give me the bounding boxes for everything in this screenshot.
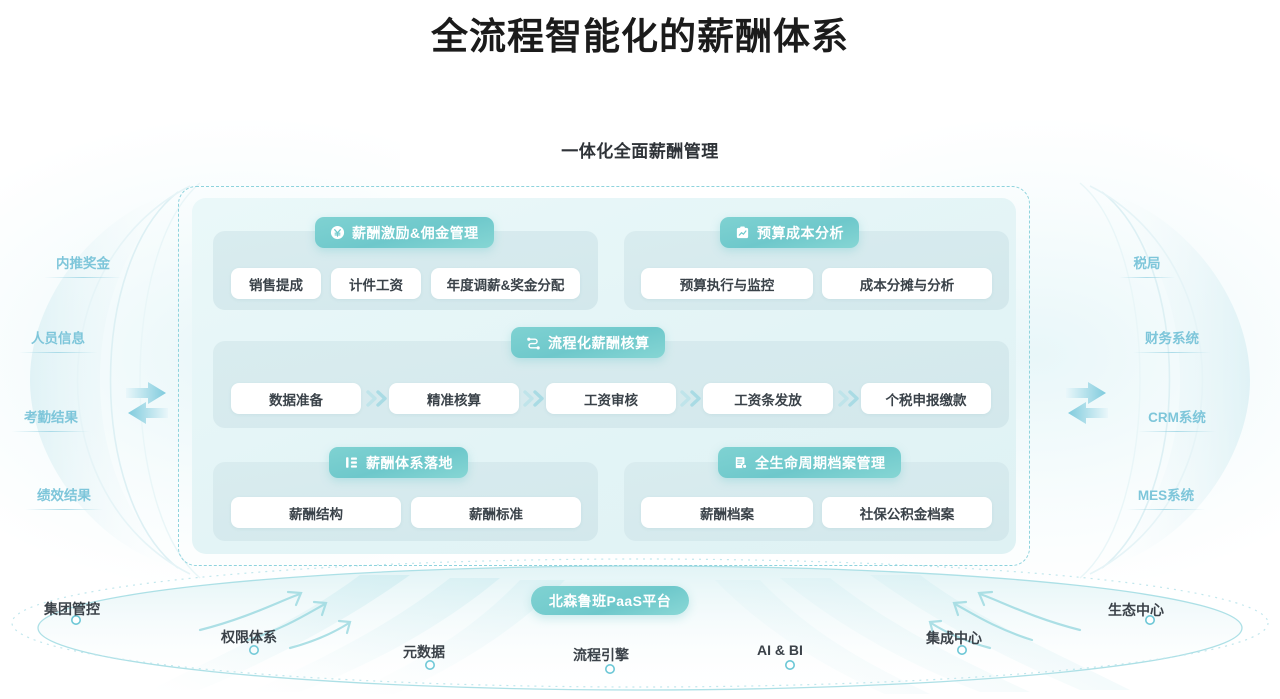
module-header-label: 全生命周期档案管理 <box>755 453 886 473</box>
platform-capability-ecosystem[interactable]: 生态中心 <box>1108 600 1164 620</box>
platform-capability-metadata[interactable]: 元数据 <box>403 642 445 662</box>
module-header-compensation-incentive[interactable]: 薪酬激励&佣金管理 <box>315 217 494 248</box>
chart-report-icon <box>735 225 750 240</box>
chip-budget-execution[interactable]: 预算执行与监控 <box>641 268 813 299</box>
platform-capability-flow-engine[interactable]: 流程引擎 <box>573 645 629 665</box>
chip-sales-commission[interactable]: 销售提成 <box>231 268 321 299</box>
exchange-arrows-icon-left <box>118 374 176 432</box>
module-header-payroll-process[interactable]: 流程化薪酬核算 <box>511 327 665 358</box>
output-label-tax-bureau: 税局 <box>1119 252 1175 278</box>
exchange-arrows-icon-right <box>1058 374 1116 432</box>
module-header-compensation-system[interactable]: 薪酬体系落地 <box>329 447 468 478</box>
platform-capability-integration[interactable]: 集成中心 <box>926 628 982 648</box>
process-step-payslip-issue[interactable]: 工资条发放 <box>703 383 833 414</box>
chip-social-fund-archive[interactable]: 社保公积金档案 <box>822 497 992 528</box>
module-header-label: 薪酬体系落地 <box>366 453 453 473</box>
output-label-crm-system: CRM系统 <box>1138 406 1216 432</box>
module-header-label: 流程化薪酬核算 <box>548 333 650 353</box>
flow-node-icon <box>526 335 541 350</box>
module-header-budget-cost[interactable]: 预算成本分析 <box>720 217 859 248</box>
module-header-label: 薪酬激励&佣金管理 <box>352 223 479 243</box>
platform-capability-group-control[interactable]: 集团管控 <box>44 599 100 619</box>
chip-cost-allocation[interactable]: 成本分摊与分析 <box>822 268 992 299</box>
archive-doc-icon <box>733 455 748 470</box>
module-header-lifecycle-archive[interactable]: 全生命周期档案管理 <box>718 447 901 478</box>
chip-annual-adjust[interactable]: 年度调薪&奖金分配 <box>431 268 580 299</box>
chip-pay-standard[interactable]: 薪酬标准 <box>411 497 581 528</box>
chip-piece-rate-wage[interactable]: 计件工资 <box>331 268 421 299</box>
paas-platform-badge[interactable]: 北森鲁班PaaS平台 <box>531 586 689 615</box>
module-header-label: 预算成本分析 <box>757 223 844 243</box>
input-label-personnel-info: 人员信息 <box>19 327 97 353</box>
input-label-referral-bonus: 内推奖金 <box>44 252 122 278</box>
page-title: 全流程智能化的薪酬体系 <box>0 6 1280 60</box>
platform-capability-ai-bi[interactable]: AI & BI <box>757 642 803 658</box>
process-step-accurate-calc[interactable]: 精准核算 <box>389 383 519 414</box>
input-label-attendance: 考勤结果 <box>12 406 90 432</box>
input-label-performance: 绩效结果 <box>25 484 103 510</box>
chip-pay-structure[interactable]: 薪酬结构 <box>231 497 401 528</box>
chip-pay-archive[interactable]: 薪酬档案 <box>641 497 813 528</box>
output-label-mes-system: MES系统 <box>1127 484 1205 510</box>
process-step-data-prep[interactable]: 数据准备 <box>231 383 361 414</box>
page-subtitle: 一体化全面薪酬管理 <box>0 137 1280 162</box>
process-step-tax-declare[interactable]: 个税申报缴款 <box>861 383 991 414</box>
process-step-salary-review[interactable]: 工资审核 <box>546 383 676 414</box>
hierarchy-icon <box>344 455 359 470</box>
platform-capability-permission[interactable]: 权限体系 <box>221 627 277 647</box>
coin-yen-icon <box>330 225 345 240</box>
output-label-finance-system: 财务系统 <box>1133 327 1211 353</box>
